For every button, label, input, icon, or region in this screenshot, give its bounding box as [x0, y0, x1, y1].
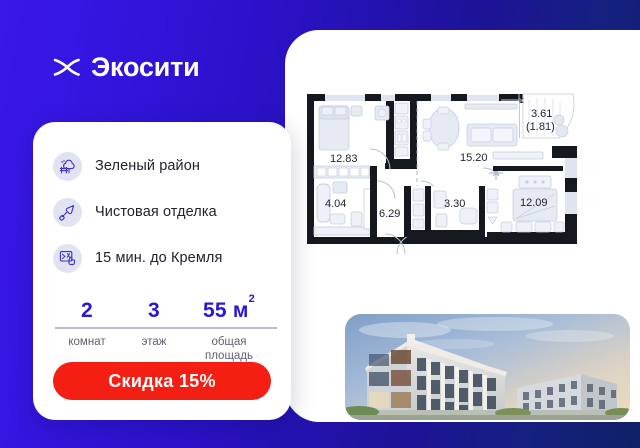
stat-area-superscript: 2 [249, 293, 255, 305]
stat-area-number: 55 [203, 299, 227, 322]
room-area-living-room: 15.20 [460, 152, 488, 164]
stats-values-row: 2 3 55 м2 [53, 294, 271, 323]
stat-rooms-value: 2 [81, 299, 93, 322]
room-area-bedroom-1: 12.83 [330, 153, 358, 165]
feature-label: 15 мин. до Кремля [95, 250, 222, 266]
room-area-bathroom: 4.04 [325, 198, 346, 210]
discount-button[interactable]: Скидка 15% [53, 362, 271, 400]
stats-labels-row: комнат этаж общая площадь [53, 335, 271, 363]
trowel-icon [53, 198, 82, 227]
stat-area-unit: м [233, 299, 249, 322]
feature-item-finishing: Чистовая отделка [53, 190, 271, 234]
stat-floor: 3 [121, 299, 187, 323]
room-area-hallway: 6.29 [379, 208, 400, 220]
listing-info-card: Зеленый район Чистовая отделка [33, 122, 291, 420]
x-mark-icon [52, 52, 82, 82]
features-list: Зеленый район Чистовая отделка [53, 144, 271, 280]
room-area-balcony: 3.61 [531, 108, 552, 120]
feature-item-kremlin-distance: 15 мин. до Кремля [53, 236, 271, 280]
floor-plan: 12.83 4.04 6.29 3.30 15.20 12.09 3.61 (1… [297, 86, 607, 282]
room-area-wc: 3.30 [444, 198, 465, 210]
feature-item-green-district: Зеленый район [53, 144, 271, 188]
feature-label: Зеленый район [95, 158, 200, 174]
stat-area-label: общая площадь [187, 335, 271, 363]
stat-area-value: 55 м2 [203, 299, 255, 322]
tree-bench-icon [53, 152, 82, 181]
feature-label: Чистовая отделка [95, 204, 217, 220]
stat-floor-value: 3 [148, 299, 160, 322]
stat-rooms: 2 [53, 299, 121, 323]
brand-logo: Экосити [52, 52, 200, 82]
brand-name: Экосити [91, 52, 200, 82]
stat-rooms-label: комнат [53, 335, 121, 363]
room-area-bedroom-2: 12.09 [520, 197, 548, 209]
stat-floor-label: этаж [121, 335, 187, 363]
stats-block: 2 3 55 м2 комнат этаж общая площадь [53, 294, 271, 363]
building-photo [345, 314, 630, 420]
room-area-balcony-reduced: (1.81) [526, 121, 555, 133]
stats-divider [55, 327, 277, 329]
stat-area: 55 м2 [187, 294, 271, 323]
kremlin-like-icon [53, 244, 82, 273]
